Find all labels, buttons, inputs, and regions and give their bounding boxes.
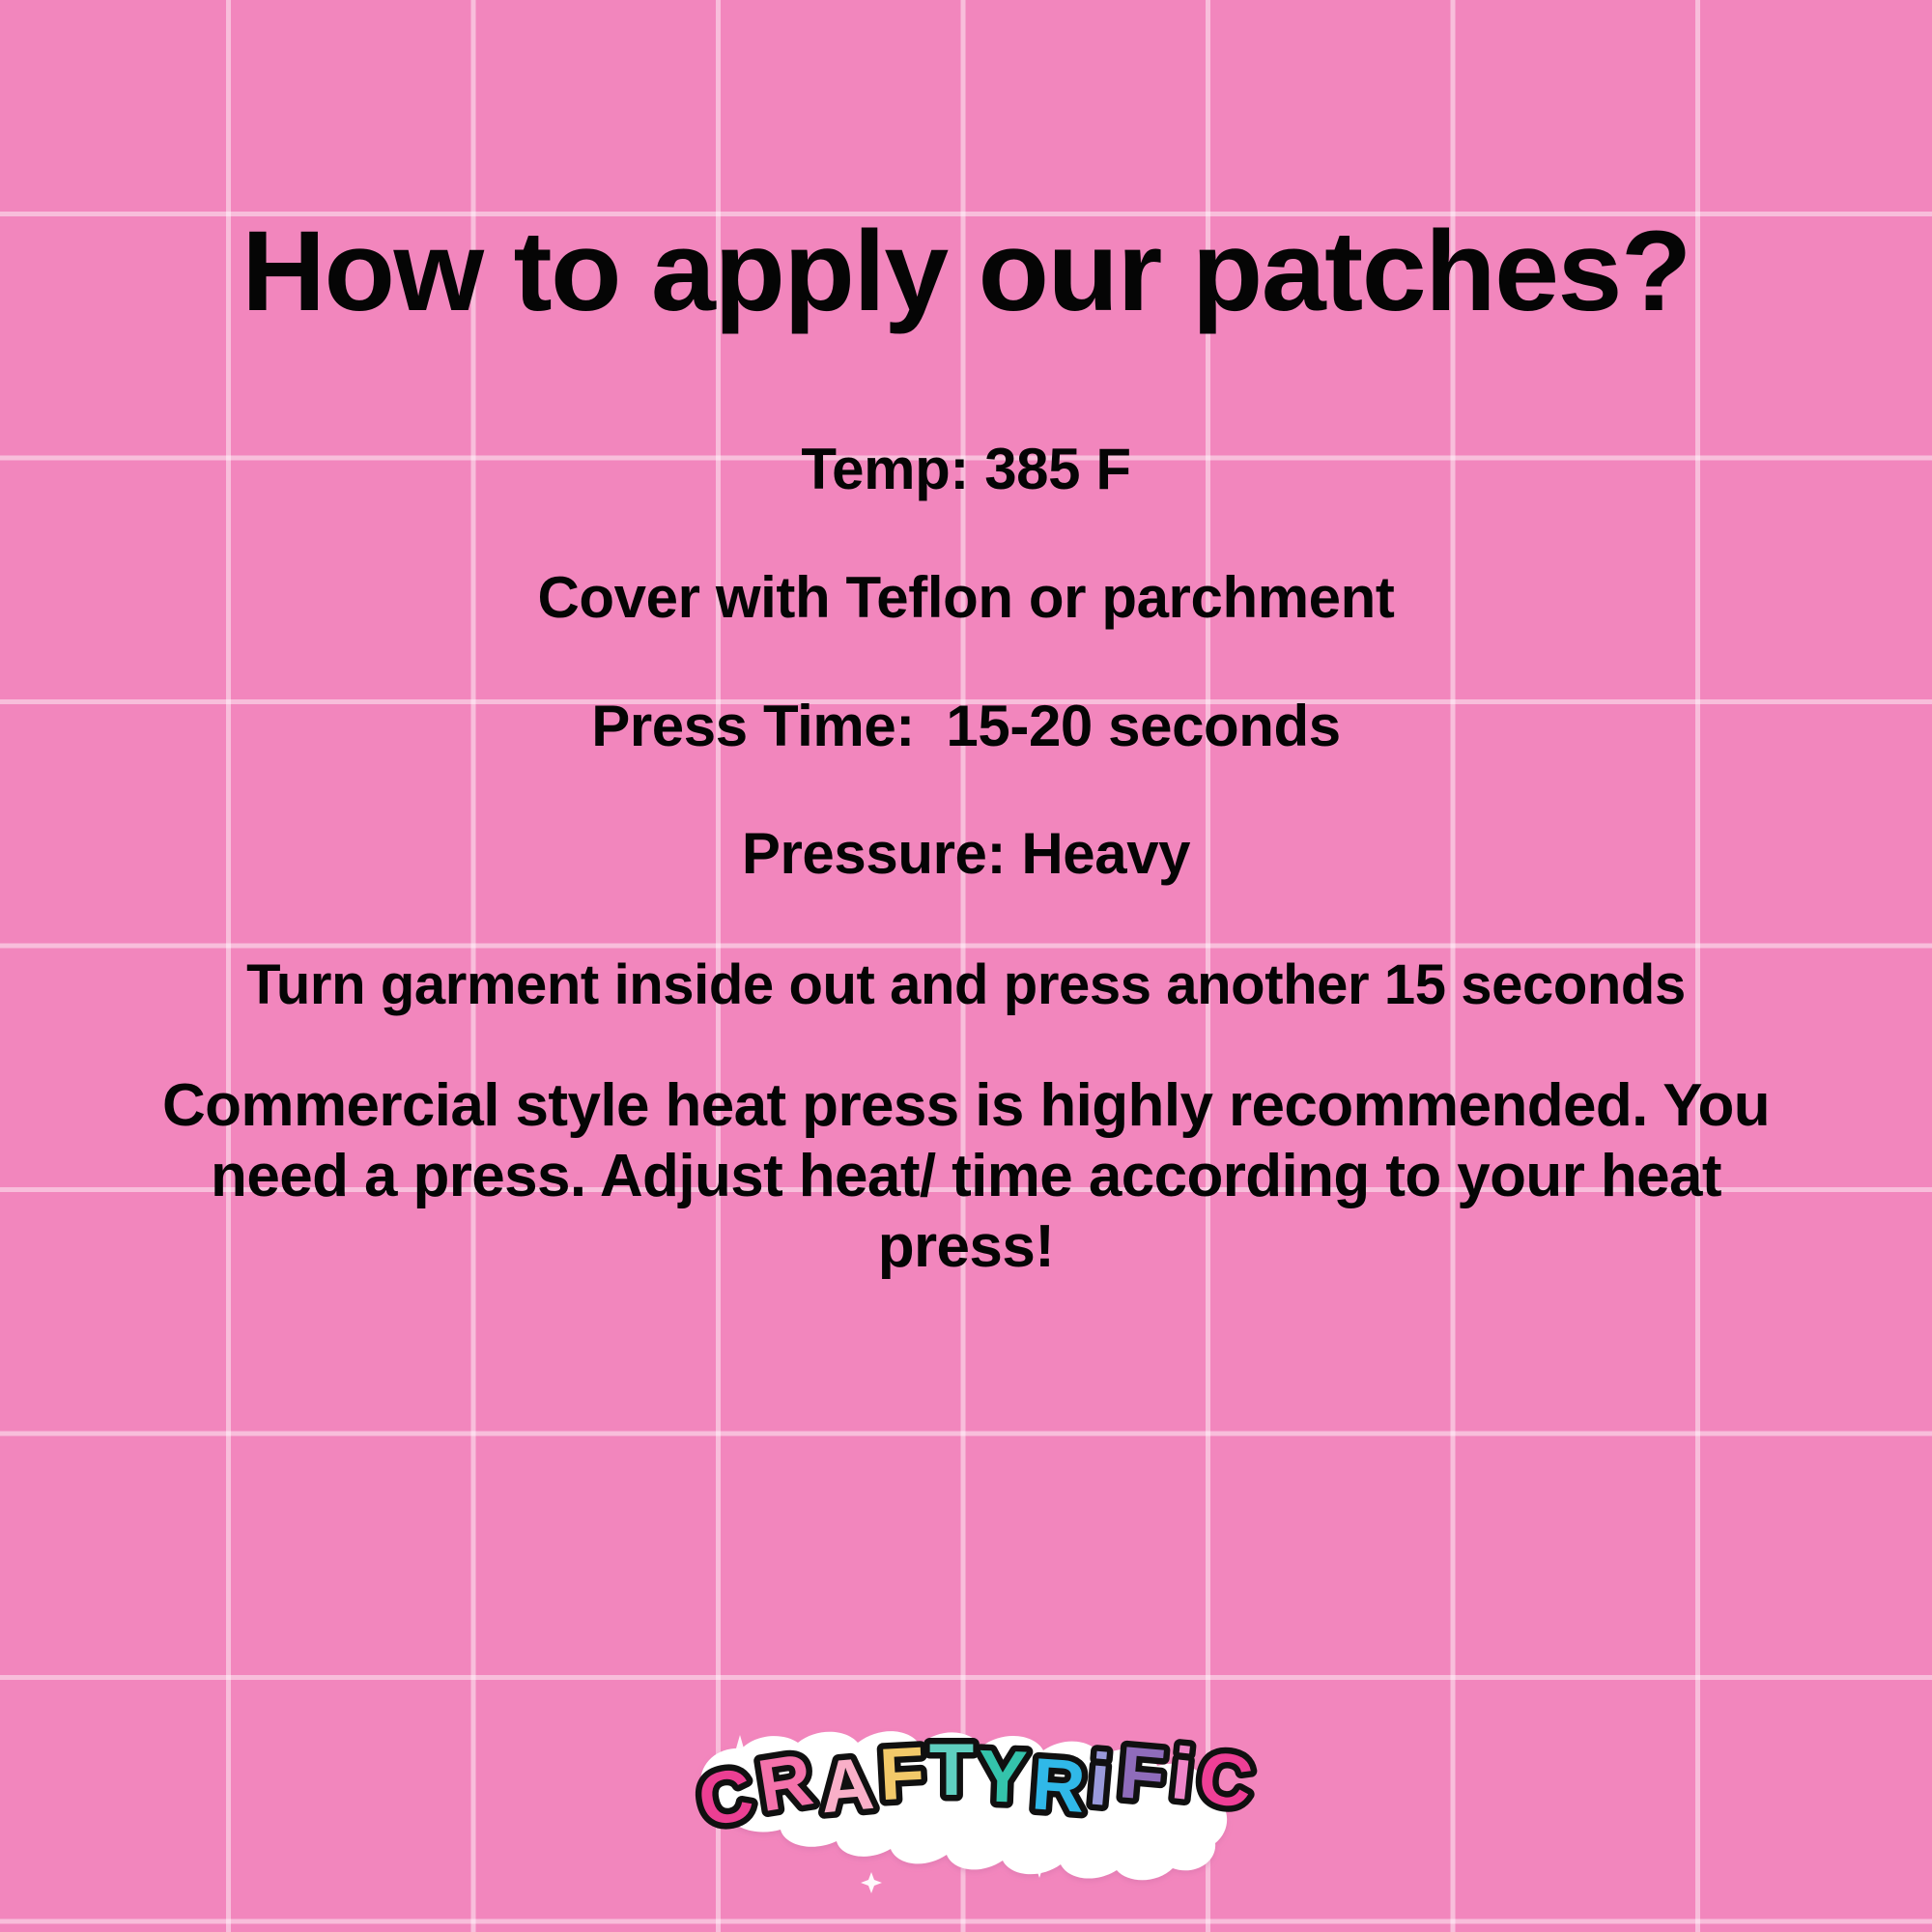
logo-letter-y: Y [977, 1735, 1029, 1819]
craftyrific-logo-svg: C C R R A A F F [657, 1710, 1275, 1893]
note-paragraph: Commercial style heat press is highly re… [130, 1070, 1802, 1282]
instruction-turn-garment: Turn garment inside out and press anothe… [0, 955, 1932, 1016]
instruction-pressure: Pressure: Heavy [0, 823, 1932, 886]
logo-letter-a: A [817, 1743, 877, 1829]
sparkle-icon [861, 1872, 882, 1893]
poster-content: How to apply our patches? Temp: 385 F Co… [0, 0, 1932, 1282]
brand-logo: C C R R A A F F [657, 1710, 1275, 1893]
instruction-press-time: Press Time: 15-20 seconds [0, 696, 1932, 758]
logo-letter-f2: F [1116, 1731, 1168, 1817]
logo-letter-f1: F [877, 1732, 926, 1816]
page-title: How to apply our patches? [0, 0, 1932, 328]
logo-letter-t: T [929, 1729, 974, 1811]
instruction-cover: Cover with Teflon or parchment [0, 567, 1932, 630]
poster-canvas: How to apply our patches? Temp: 385 F Co… [0, 0, 1932, 1932]
instruction-temp: Temp: 385 F [0, 439, 1932, 501]
logo-letter-r2: R [1029, 1743, 1088, 1829]
logo-letter-c2: C [1193, 1736, 1257, 1825]
